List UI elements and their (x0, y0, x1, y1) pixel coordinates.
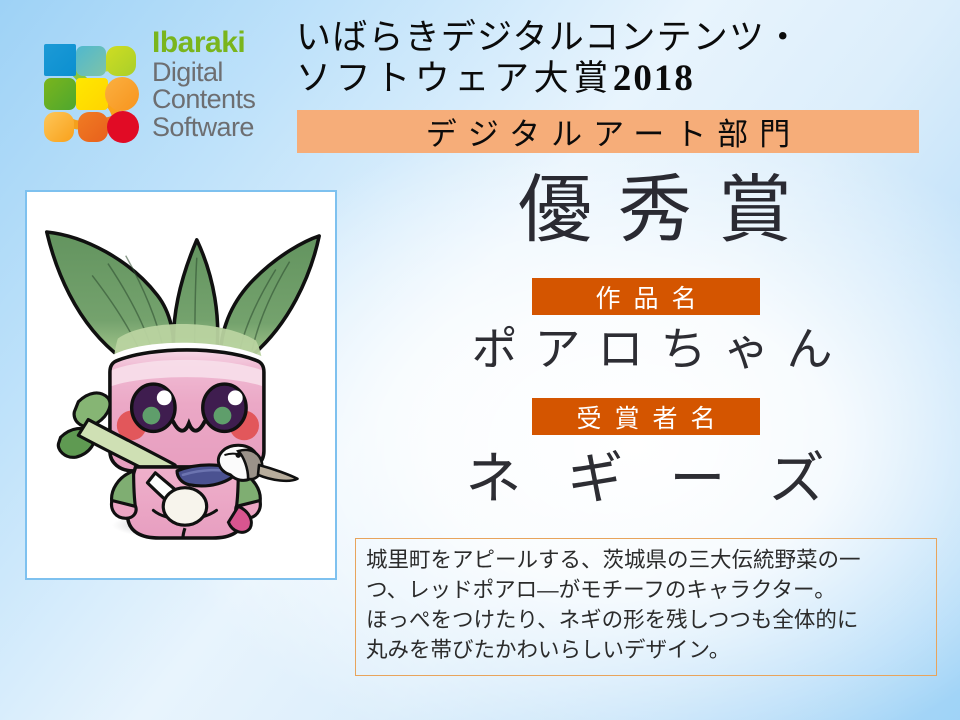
logo-mark-icon (34, 34, 146, 146)
description-line-4: 丸みを帯びたかわいらしいデザイン。 (366, 635, 928, 665)
description-line-2: つ、レッドポアロ―がモチーフのキャラクター。 (366, 575, 928, 605)
page-title: いばらきデジタルコンテンツ・ ソフトウェア大賞2018 (296, 18, 924, 100)
title-line-2-wrap: ソフトウェア大賞2018 (296, 58, 924, 100)
logo-line-contents: Contents (152, 86, 302, 114)
recipient-name-value: ネギーズ (385, 452, 905, 508)
title-line-1: いばらきデジタルコンテンツ・ (296, 18, 801, 57)
logo-line-software: Software (152, 114, 302, 142)
description-line-1: 城里町をアピールする、茨城県の三大伝統野菜の一 (366, 545, 928, 575)
award-rank-title: 優秀賞 (420, 174, 890, 248)
logo-line-ibaraki: Ibaraki (152, 28, 302, 59)
work-title-value: ポアロちゃん (412, 327, 892, 373)
work-title-label-text: 作品名 (582, 279, 709, 315)
artwork-frame (25, 190, 337, 580)
description-box: 城里町をアピールする、茨城県の三大伝統野菜の一 つ、レッドポアロ―がモチーフのキ… (355, 538, 937, 676)
title-line-2: ソフトウェア大賞 (296, 59, 613, 98)
logo-wordmark: Ibaraki Digital Contents Software (152, 28, 302, 141)
logo-line-digital: Digital (152, 59, 302, 87)
award-slide: Ibaraki Digital Contents Software いばらきデジ… (0, 0, 960, 720)
ibaraki-dcs-logo: Ibaraki Digital Contents Software (30, 26, 298, 156)
title-year: 2018 (613, 58, 695, 99)
recipient-name-label: 受賞者名 (532, 398, 760, 435)
work-title-label: 作品名 (532, 278, 760, 315)
description-line-3: ほっぺをつけたり、ネギの形を残しつつも全体的に (366, 605, 928, 635)
recipient-name-label-text: 受賞者名 (563, 399, 728, 435)
category-label: デジタルアート部門 (415, 109, 802, 154)
category-banner: デジタルアート部門 (297, 110, 919, 153)
artwork-illustration (27, 192, 335, 578)
